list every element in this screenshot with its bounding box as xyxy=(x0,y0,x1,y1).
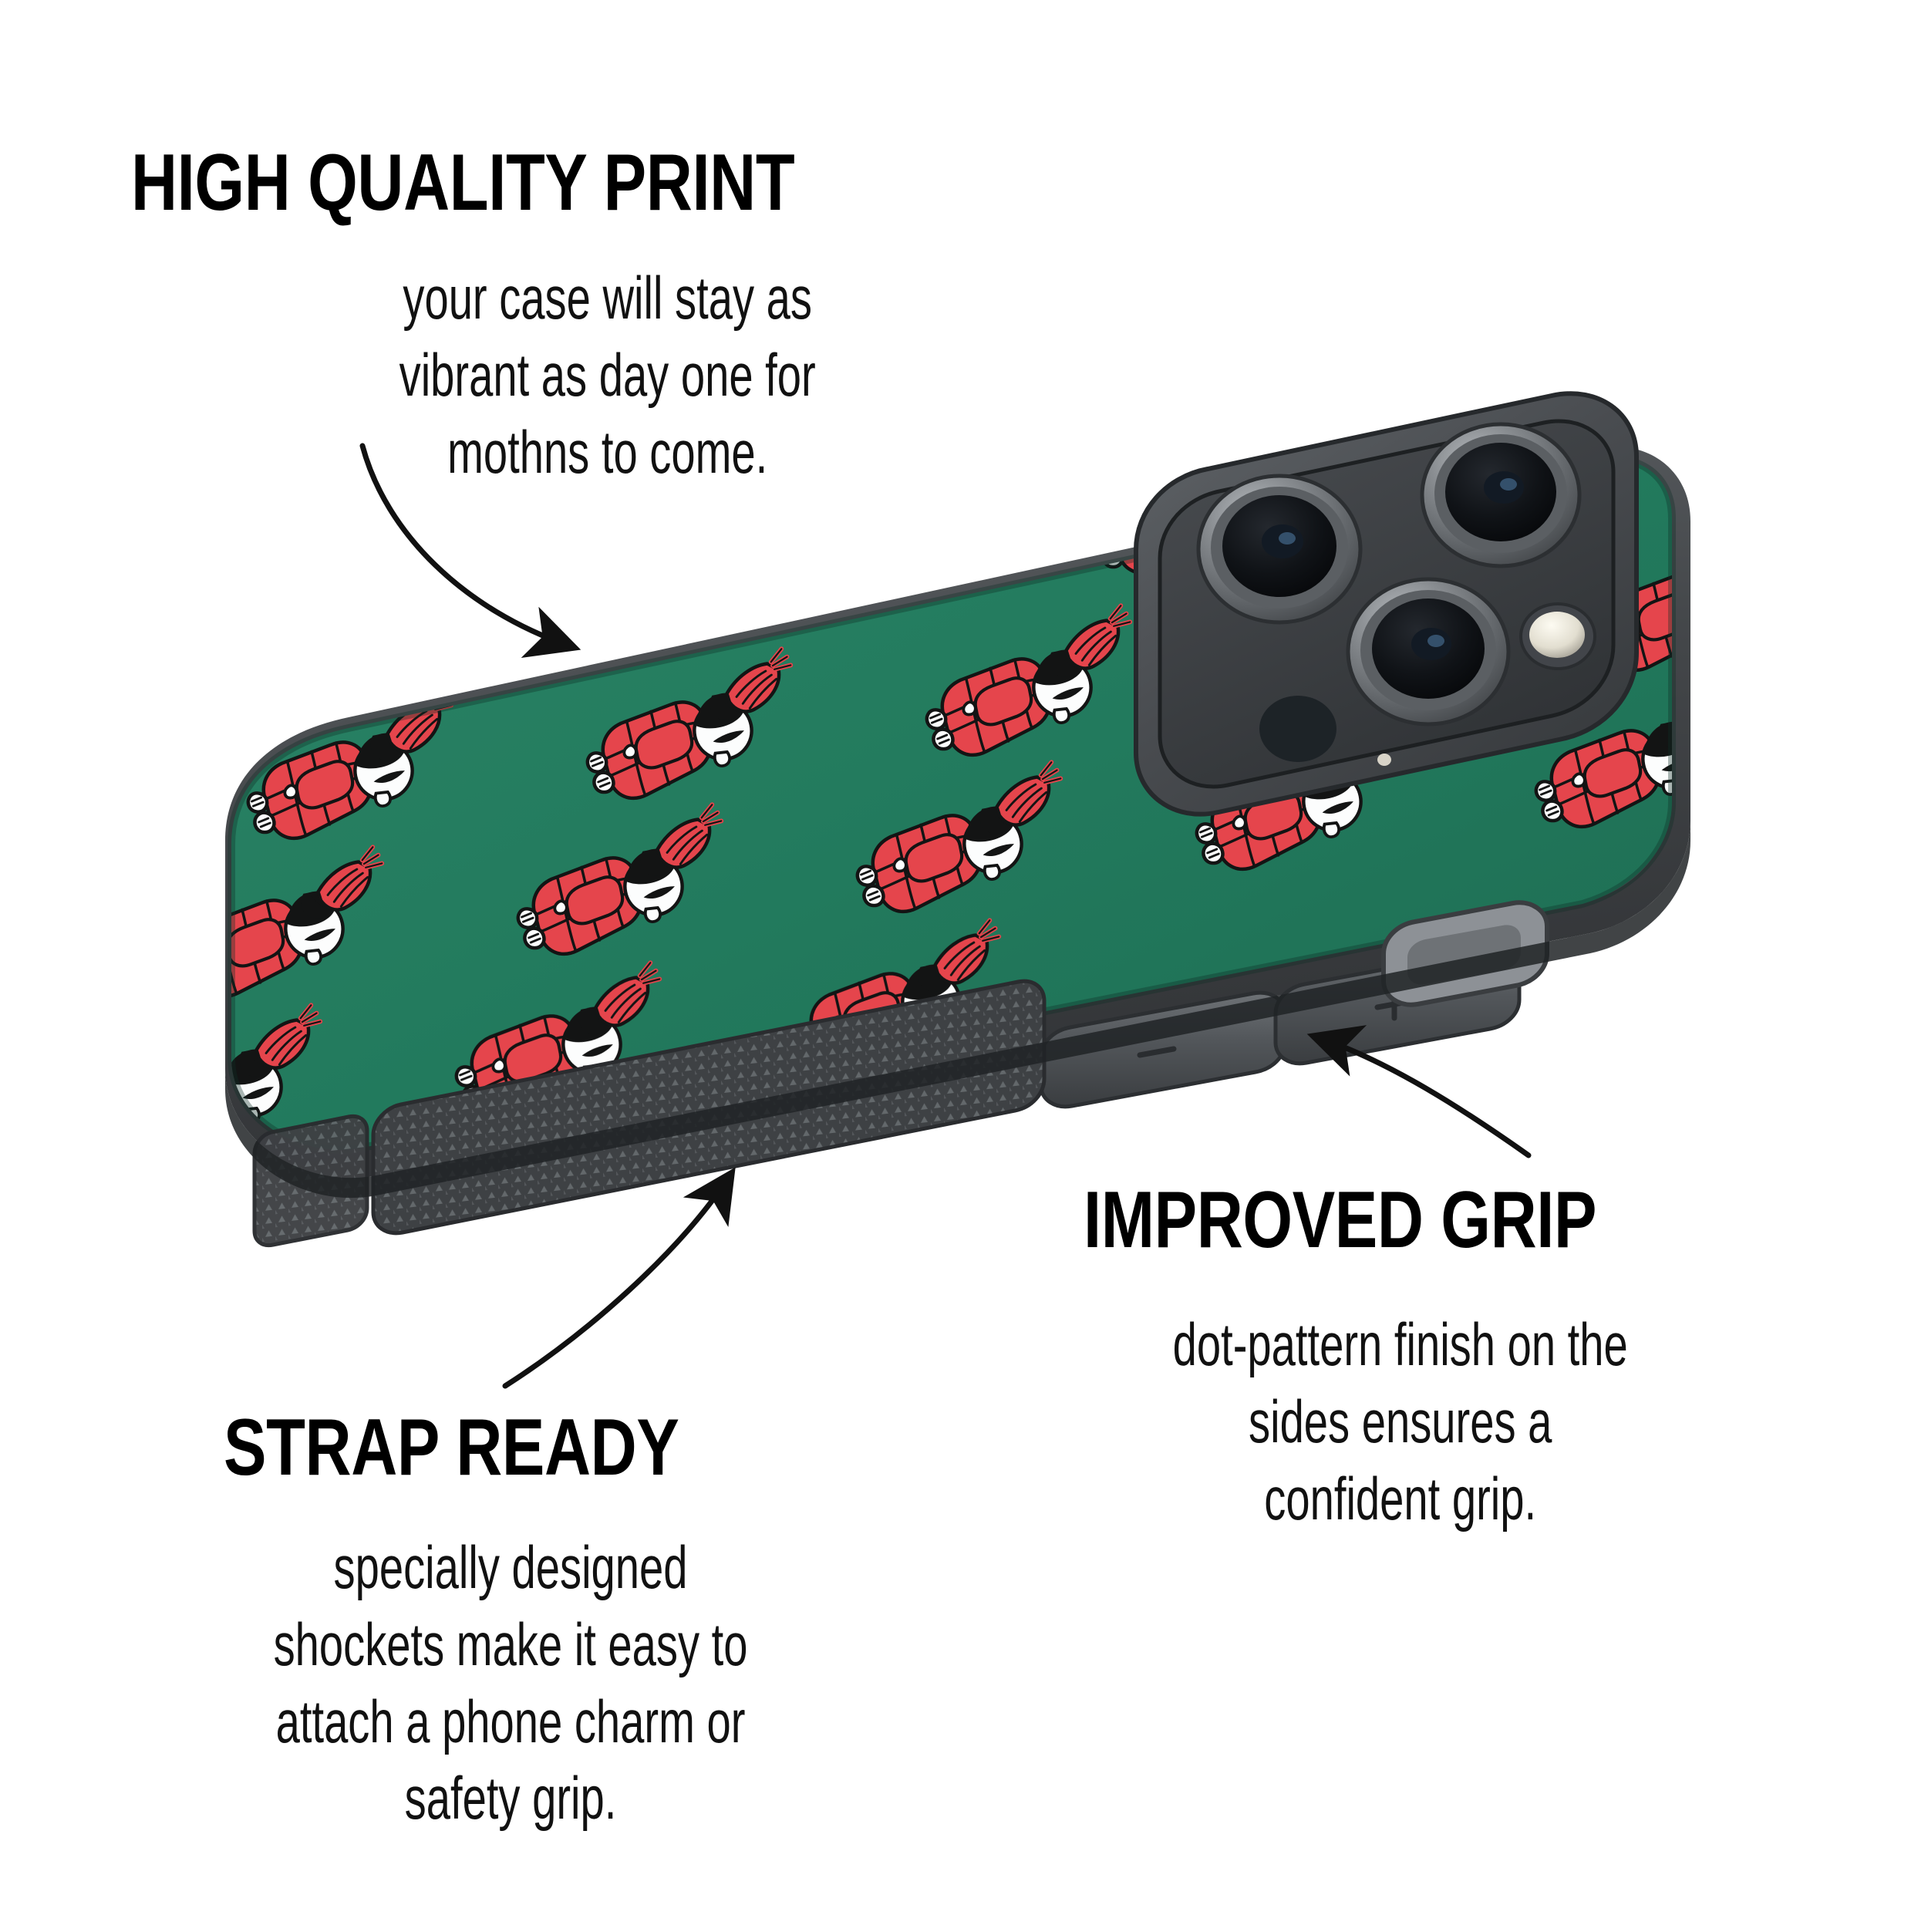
camera-flash-icon xyxy=(1521,604,1595,669)
feature-title-improved-grip: IMPROVED GRIP xyxy=(1084,1180,1596,1260)
camera-lens-bottom xyxy=(1348,579,1508,724)
feature-improved-grip: IMPROVED GRIP dot-pattern finish on the … xyxy=(1084,1180,1724,1537)
camera-lens-top-right xyxy=(1422,424,1579,566)
feature-body-line: mothns to come. xyxy=(353,414,861,491)
camera-lidar-icon xyxy=(1259,696,1336,762)
feature-body-line: shockets make it easy to xyxy=(274,1607,748,1684)
feature-body-line: confident grip. xyxy=(1167,1461,1634,1538)
print-motif xyxy=(403,507,640,665)
infographic-canvas: HIGH QUALITY PRINT your case will stay a… xyxy=(0,0,1928,1928)
feature-body-strap-ready: specially designed shockets make it easy… xyxy=(274,1529,748,1837)
feature-strap-ready: STRAP READY specially designed shockets … xyxy=(224,1408,840,1837)
feature-body-high-quality-print: your case will stay as vibrant as day on… xyxy=(353,260,861,491)
feature-body-line: sides ensures a xyxy=(1167,1384,1634,1461)
camera-microphone-icon xyxy=(1377,754,1391,766)
feature-body-line: attach a phone charm or xyxy=(274,1684,748,1761)
feature-body-line: dot-pattern finish on the xyxy=(1167,1307,1634,1384)
feature-body-line: safety grip. xyxy=(274,1760,748,1837)
feature-body-line: specially designed xyxy=(274,1529,748,1607)
feature-title-high-quality-print: HIGH QUALITY PRINT xyxy=(131,143,794,223)
camera-lens-top-left xyxy=(1198,476,1360,622)
feature-body-line: vibrant as day one for xyxy=(353,337,861,414)
feature-high-quality-print: HIGH QUALITY PRINT your case will stay a… xyxy=(131,143,960,491)
feature-title-strap-ready: STRAP READY xyxy=(224,1408,716,1488)
feature-body-improved-grip: dot-pattern finish on the sides ensures … xyxy=(1167,1307,1634,1537)
feature-body-line: your case will stay as xyxy=(353,260,861,337)
